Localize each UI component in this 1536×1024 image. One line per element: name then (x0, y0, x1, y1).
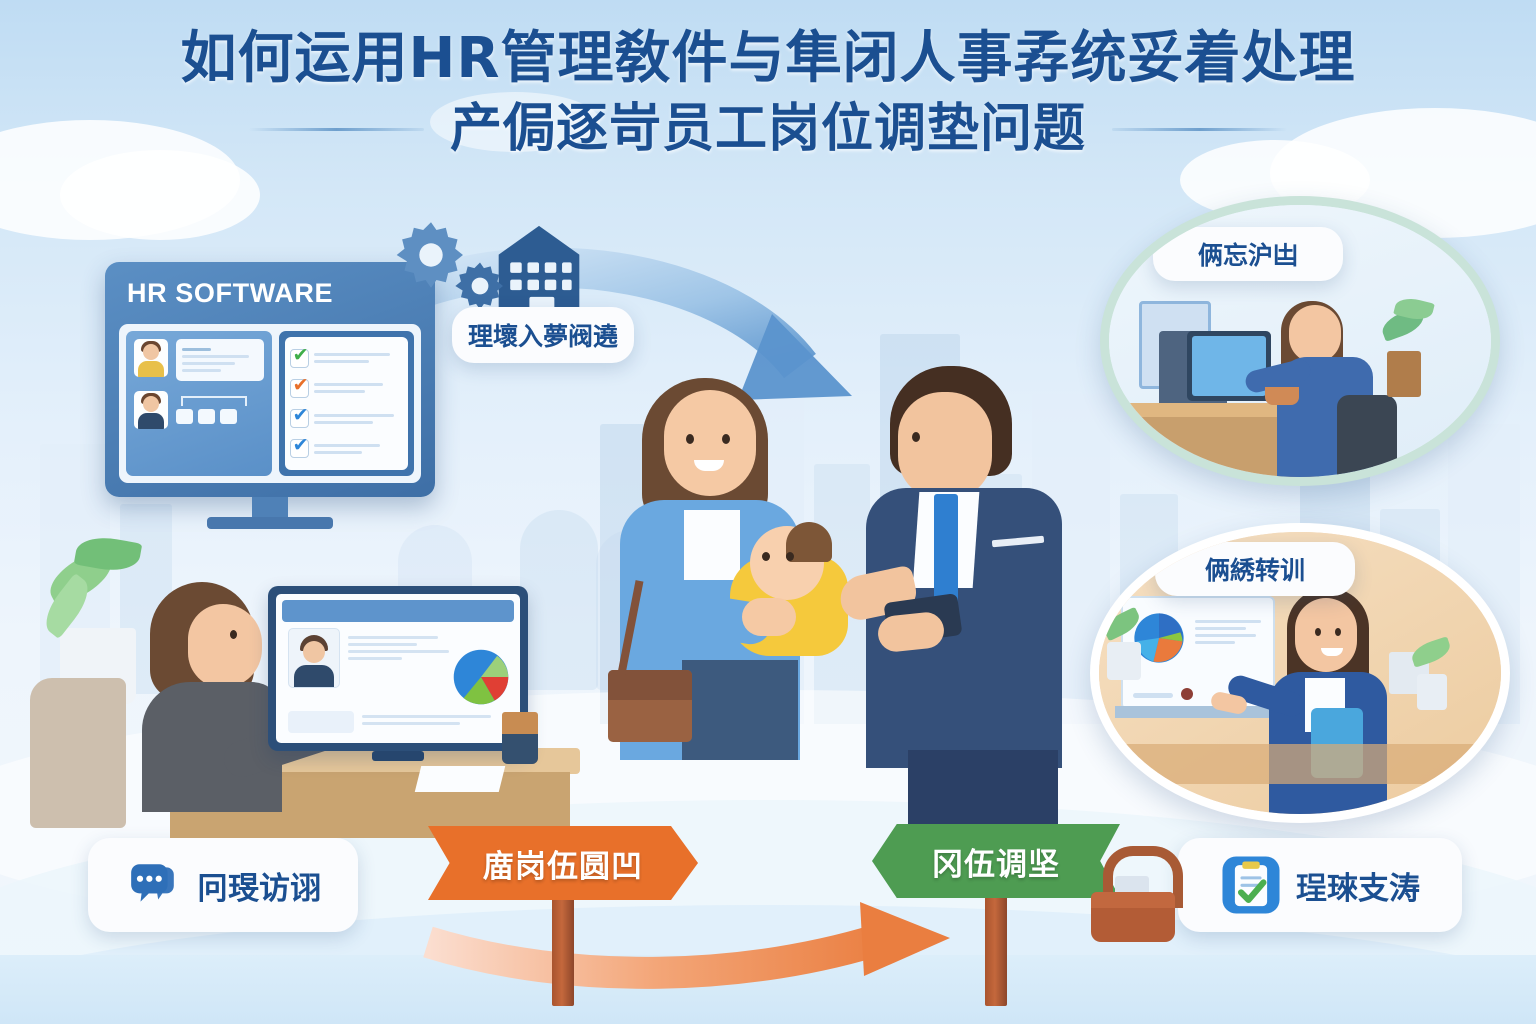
approval-checklist-pane[interactable]: ✔ ✔ ✔ ✔ (279, 331, 414, 476)
title-divider-left (249, 128, 424, 131)
office-chair (1337, 395, 1397, 486)
hr-specialist-desk-scene (20, 520, 580, 850)
hr-software-panel[interactable]: HR SOFTWARE (105, 262, 435, 497)
sign-orange[interactable]: 庿岗伍圆凹 (428, 826, 698, 900)
face (1295, 598, 1357, 672)
face (898, 392, 992, 500)
checklist-item[interactable]: ✔ (290, 379, 403, 398)
checklist-item[interactable]: ✔ (290, 349, 403, 368)
hr-specialist (92, 578, 292, 808)
title-divider-right (1112, 128, 1287, 131)
page-title: 如何运用HR管理敎件与隼闭人事孨统妥着处理 产侷逐岢员工岗位调垫问题 (0, 26, 1536, 160)
hr-software-title: HR SOFTWARE (127, 278, 333, 309)
system-label-pill[interactable]: 理壞入夢阀遶 (452, 307, 634, 363)
scene2-label-text: 俩綉转训 (1205, 551, 1305, 587)
badge-policy[interactable]: 珵琜支涛 (1178, 838, 1462, 932)
trousers (908, 750, 1058, 830)
badge-consult[interactable]: 冋琝访诩 (88, 838, 358, 932)
sign-green-text: 冈伍调坚 (932, 839, 1060, 884)
employee-directory-pane[interactable] (126, 331, 272, 476)
plant-pot (1107, 642, 1141, 680)
sign-green[interactable]: 冈伍调坚 (872, 824, 1120, 898)
scene2-label[interactable]: 俩綉转训 (1155, 542, 1355, 596)
monitor-body: HR SOFTWARE (105, 262, 435, 497)
shirt (684, 510, 740, 580)
monitor-base (207, 517, 333, 529)
gear-small-icon (452, 258, 508, 314)
avatar (134, 339, 168, 377)
floor-base (0, 955, 1536, 1024)
badge-consult-text: 冋琝访诩 (197, 863, 321, 908)
paper (415, 766, 505, 792)
counter (1099, 744, 1501, 784)
hand (742, 598, 796, 636)
eye (230, 630, 237, 639)
sign-orange-text: 庿岗伍圆凹 (483, 841, 643, 886)
title-line-2: 产侷逐岢员工岗位调垫问题 (450, 98, 1086, 160)
plant-pot (1387, 351, 1421, 397)
coffee-cup (502, 712, 538, 764)
scene1-label-text: 俩忘沪凷 (1198, 236, 1298, 272)
profile-avatar (288, 628, 340, 688)
pie-chart (450, 646, 512, 708)
system-label-text: 理壞入夢阀遶 (468, 317, 618, 353)
monitor-screen: ✔ ✔ ✔ ✔ (119, 324, 421, 483)
badge-policy-text: 珵琜支涛 (1296, 863, 1420, 908)
checklist-item[interactable]: ✔ (290, 409, 403, 428)
handbag-icon (1085, 846, 1181, 944)
trousers (682, 660, 798, 760)
desk-monitor[interactable] (268, 586, 528, 751)
monitor-neck (252, 497, 288, 519)
sign-green-group[interactable]: 冈伍调坚 (872, 824, 1120, 898)
checklist-item[interactable]: ✔ (290, 439, 403, 458)
face (1289, 305, 1341, 363)
board-stand (1115, 706, 1275, 718)
mug (1265, 387, 1299, 405)
profile-text-block (176, 339, 264, 381)
sign-orange-group[interactable]: 庿岗伍圆凹 (428, 826, 698, 900)
chat-bubble-icon (125, 859, 181, 911)
maternity-consultation-scene (590, 360, 1080, 830)
face (664, 390, 756, 496)
face (188, 604, 262, 688)
scene-remote-work[interactable]: 俩忘沪凷 (1100, 196, 1500, 486)
avatar (134, 391, 168, 429)
title-line-1: 如何运用HR管理敎件与隼闭人事孨统妥着处理 (0, 26, 1536, 92)
poster-canvas: 如何运用HR管理敎件与隼闭人事孨统妥着处理 产侷逐岢员工岗位调垫问题 HR SO… (0, 0, 1536, 1024)
scene-training-presentation[interactable]: 俩綉转训 (1090, 523, 1510, 823)
plant-pot (1417, 674, 1447, 710)
clipboard-check-icon (1220, 854, 1282, 916)
scene1-label[interactable]: 俩忘沪凷 (1153, 227, 1343, 281)
monitor-stand (372, 751, 424, 761)
org-chart (176, 396, 247, 424)
